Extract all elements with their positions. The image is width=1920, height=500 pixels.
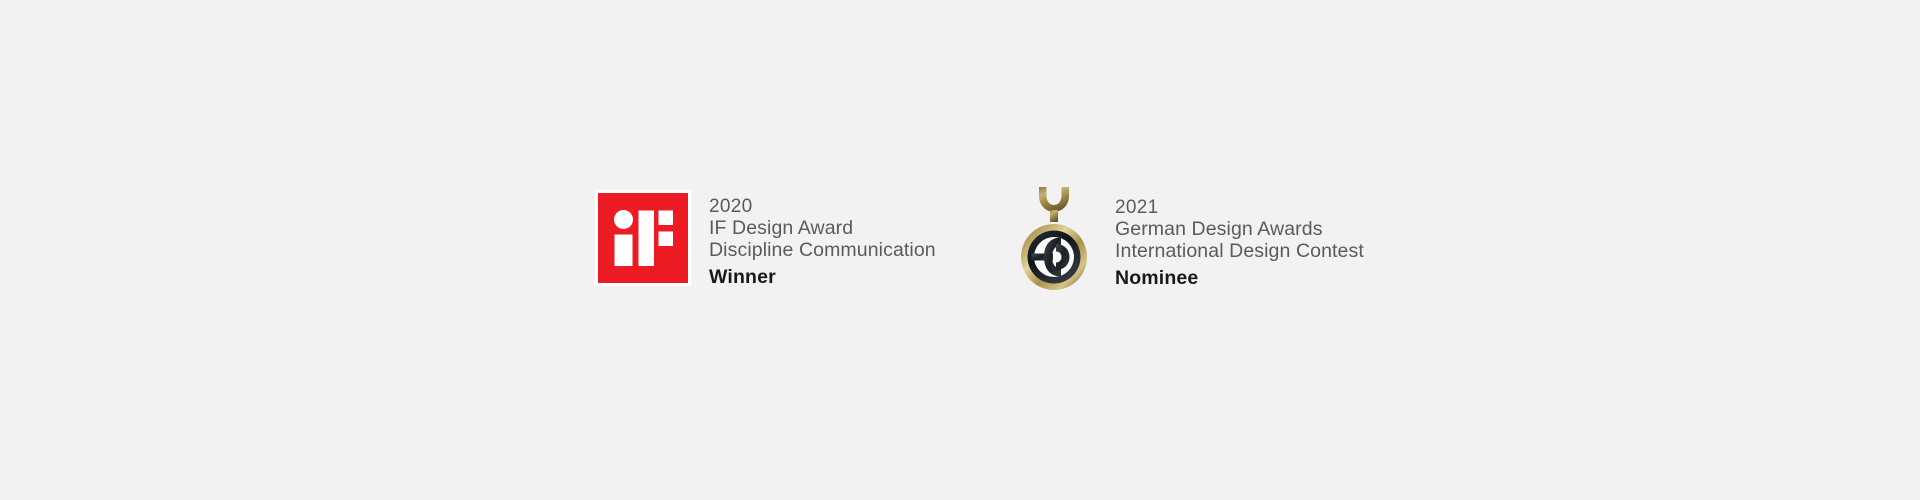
award-text-block: 2020 IF Design Award Discipline Communic… [709,190,936,289]
gda-medal-graphic-icon [1020,182,1088,294]
award-status: Nominee [1115,268,1364,290]
award-category: International Design Contest [1115,241,1364,263]
award-name: German Design Awards [1115,219,1364,241]
award-badge-if-design-award[interactable]: 2020 IF Design Award Discipline Communic… [595,190,936,289]
award-name: IF Design Award [709,218,936,240]
award-year: 2021 [1115,197,1364,219]
awards-strip: 2020 IF Design Award Discipline Communic… [0,0,1920,500]
award-category: Discipline Communication [709,240,936,262]
if-design-award-logo-icon [595,190,691,286]
award-badge-german-design-awards[interactable]: 2021 German Design Awards International … [1020,182,1364,294]
german-design-awards-medal-icon [1020,182,1088,294]
award-text-block: 2021 German Design Awards International … [1115,182,1364,290]
award-status: Winner [709,267,936,289]
award-year: 2020 [709,196,936,218]
if-logo-mark-icon [598,193,688,283]
